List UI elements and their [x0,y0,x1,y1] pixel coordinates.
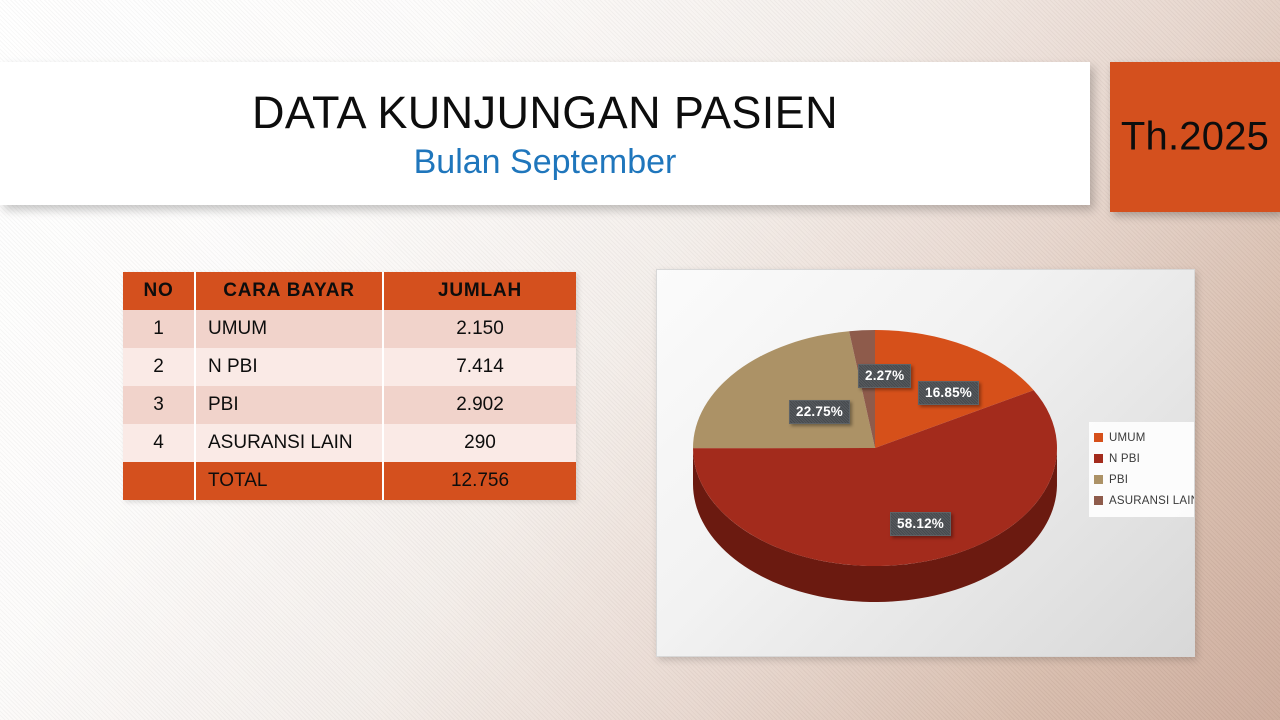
title-band: DATA KUNJUNGAN PASIEN Bulan September [0,62,1090,205]
cell-no: 1 [123,310,195,348]
legend-label: PBI [1109,474,1128,486]
pie-chart-panel: 2.27% 16.85% 22.75% 58.12% UMUM N PBI PB… [656,269,1195,657]
cell-jumlah: 290 [383,424,576,462]
pie-label-n-pbi: 58.12% [890,512,951,536]
cell-cara-bayar: ASURANSI LAIN [195,424,383,462]
legend-swatch-icon [1094,433,1103,442]
cell-cara-bayar: UMUM [195,310,383,348]
column-header-no: NO [123,272,195,310]
cell-jumlah: 7.414 [383,348,576,386]
pie-label-umum: 16.85% [918,381,979,405]
legend-item-pbi: PBI [1094,469,1195,490]
legend-item-umum: UMUM [1094,427,1195,448]
pie-slice [693,331,875,448]
pie-chart-svg [675,288,1075,628]
chart-legend: UMUM N PBI PBI ASURANSI LAIN [1089,422,1195,517]
column-header-jumlah: JUMLAH [383,272,576,310]
table-row: 3 PBI 2.902 [123,386,576,424]
cell-jumlah: 2.902 [383,386,576,424]
cell-cara-bayar: PBI [195,386,383,424]
cell-no: 4 [123,424,195,462]
cell-jumlah: 2.150 [383,310,576,348]
year-badge: Th.2025 [1110,62,1280,212]
table-row: 1 UMUM 2.150 [123,310,576,348]
cell-total-amount: 12.756 [383,462,576,500]
legend-swatch-icon [1094,475,1103,484]
table-header-row: NO CARA BAYAR JUMLAH [123,272,576,310]
cell-total-label: TOTAL [195,462,383,500]
year-badge-label: Th.2025 [1110,115,1280,160]
data-table: NO CARA BAYAR JUMLAH 1 UMUM 2.150 2 N PB… [123,272,576,500]
legend-swatch-icon [1094,454,1103,463]
page-title: DATA KUNJUNGAN PASIEN [0,88,1090,138]
pie-chart: 2.27% 16.85% 22.75% 58.12% [675,288,1075,628]
pie-label-asuransi-lain: 2.27% [858,364,911,388]
legend-item-n-pbi: N PBI [1094,448,1195,469]
legend-label: N PBI [1109,453,1140,465]
cell-no [123,462,195,500]
legend-label: ASURANSI LAIN [1109,495,1195,507]
cell-no: 2 [123,348,195,386]
page-subtitle: Bulan September [0,141,1090,183]
table-row: 4 ASURANSI LAIN 290 [123,424,576,462]
table-total-row: TOTAL 12.756 [123,462,576,500]
legend-item-asuransi-lain: ASURANSI LAIN [1094,490,1195,511]
column-header-cara-bayar: CARA BAYAR [195,272,383,310]
table-row: 2 N PBI 7.414 [123,348,576,386]
slide-canvas: DATA KUNJUNGAN PASIEN Bulan September Th… [0,0,1280,720]
legend-swatch-icon [1094,496,1103,505]
cell-cara-bayar: N PBI [195,348,383,386]
cell-no: 3 [123,386,195,424]
legend-label: UMUM [1109,432,1146,444]
pie-label-pbi: 22.75% [789,400,850,424]
